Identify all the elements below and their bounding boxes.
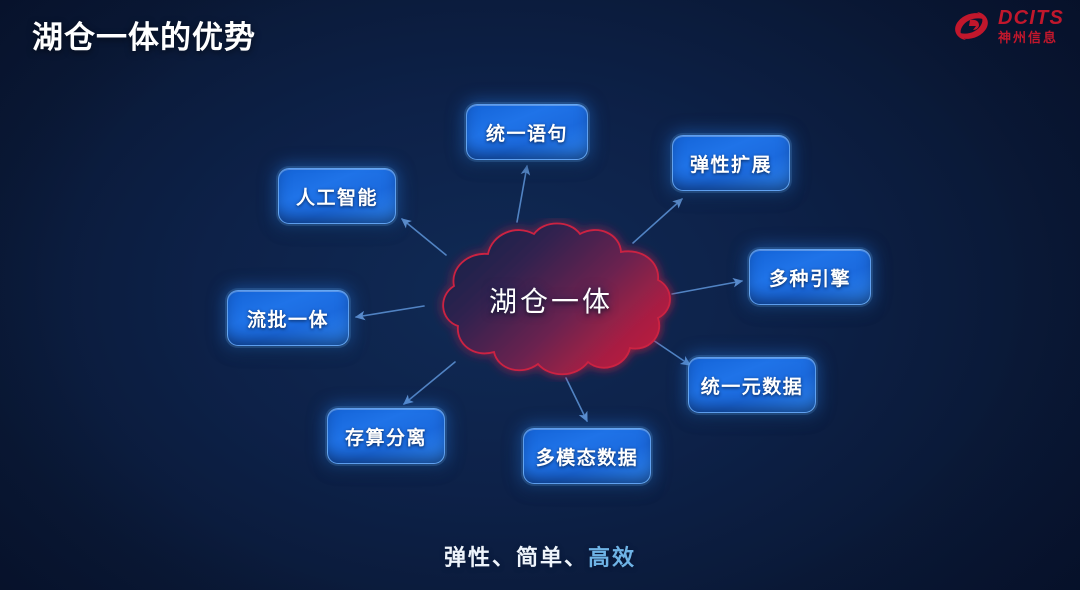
connector-arrow-n2 bbox=[672, 281, 742, 294]
brand-logo: DCITS 神州信息 bbox=[952, 8, 1064, 44]
node-label: 流批一体 bbox=[247, 305, 329, 332]
node-tongyi-yuju[interactable]: 统一语句 bbox=[466, 104, 588, 160]
node-cunsuan-fenli[interactable]: 存算分离 bbox=[327, 408, 445, 464]
cloud-center-label: 湖仓一体 bbox=[418, 218, 680, 382]
node-label: 多模态数据 bbox=[536, 443, 639, 470]
node-tongyi-yuanshuju[interactable]: 统一元数据 bbox=[688, 357, 816, 413]
tagline: 弹性、简单、高效 bbox=[0, 540, 1080, 572]
node-label: 统一元数据 bbox=[701, 372, 804, 399]
central-cloud: 湖仓一体 bbox=[418, 218, 680, 382]
node-rengong-zhineng[interactable]: 人工智能 bbox=[278, 168, 396, 224]
slide-canvas: 湖仓一体的优势 DCITS 神州信息 bbox=[0, 0, 1080, 590]
brand-latin-name: DCITS bbox=[998, 8, 1064, 28]
node-liupi-yiti[interactable]: 流批一体 bbox=[227, 290, 349, 346]
node-duozhong-yinqing[interactable]: 多种引擎 bbox=[749, 249, 871, 305]
connector-arrow-n0 bbox=[517, 166, 527, 222]
brand-text: DCITS 神州信息 bbox=[998, 8, 1064, 44]
connector-arrow-n6 bbox=[356, 306, 424, 317]
tagline-part-one: 弹性、简单、 bbox=[444, 545, 588, 570]
node-label: 统一语句 bbox=[486, 119, 568, 146]
page-title: 湖仓一体的优势 bbox=[32, 12, 256, 57]
node-label: 多种引擎 bbox=[769, 264, 851, 291]
tagline-part-two: 高效 bbox=[588, 545, 636, 570]
connector-arrow-n4 bbox=[566, 378, 587, 421]
brand-chinese-name: 神州信息 bbox=[998, 31, 1064, 44]
dcits-swirl-logo-icon bbox=[952, 9, 992, 43]
node-tanxing-kuozhan[interactable]: 弹性扩展 bbox=[672, 135, 790, 191]
node-label: 弹性扩展 bbox=[690, 150, 772, 177]
node-label: 人工智能 bbox=[296, 183, 378, 210]
node-duomotai-shuju[interactable]: 多模态数据 bbox=[523, 428, 651, 484]
node-label: 存算分离 bbox=[345, 423, 427, 450]
